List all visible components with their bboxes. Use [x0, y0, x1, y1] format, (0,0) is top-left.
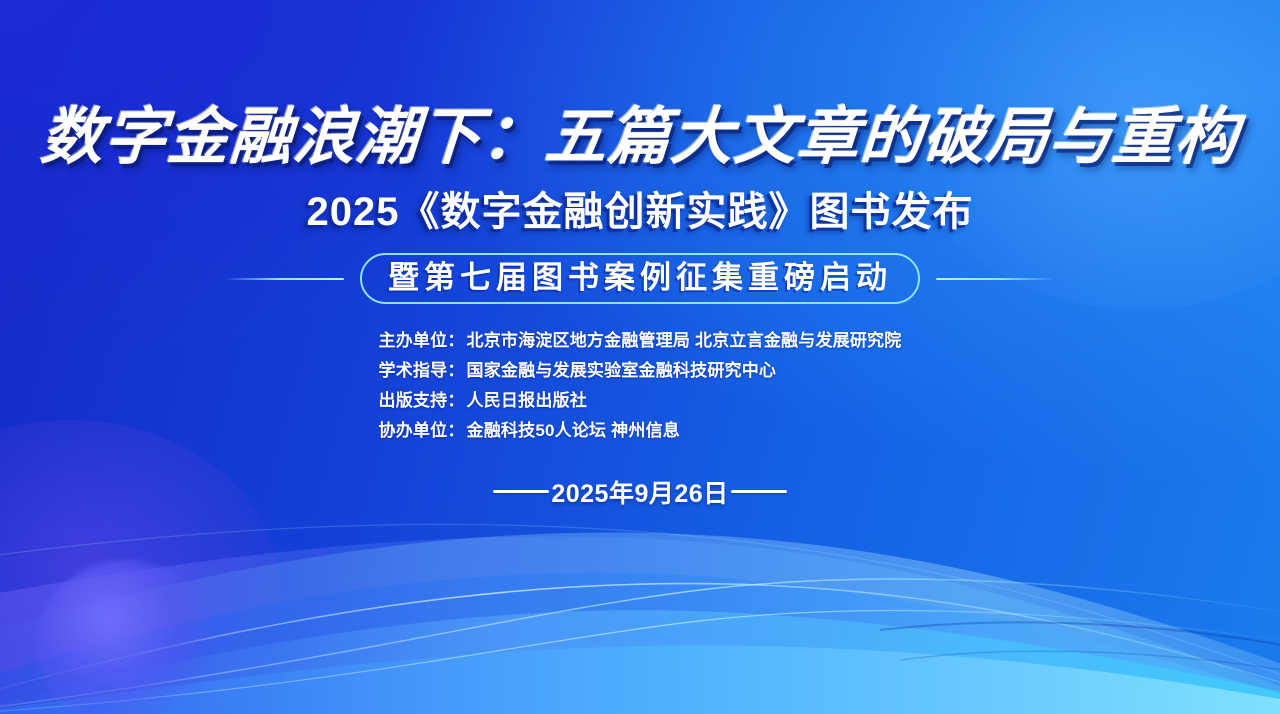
credit-value-organizer: 北京市海淀区地方金融管理局 北京立言金融与发展研究院	[467, 331, 902, 350]
date-dash-right	[731, 490, 787, 493]
page-title: 数字金融浪潮下：五篇大文章的破局与重构	[39, 107, 1240, 169]
launch-badge-label: 暨第七届图书案例征集重磅启动	[388, 260, 892, 295]
divider-line-left	[224, 278, 344, 280]
credit-label-publisher: 出版支持：	[379, 391, 465, 410]
poster-content: 数字金融浪潮下：五篇大文章的破局与重构 2025《数字金融创新实践》图书发布 暨…	[0, 0, 1280, 714]
divider-line-right	[936, 278, 1056, 280]
credit-line-publisher: 出版支持：人民日报出版社	[379, 390, 587, 413]
credit-line-organizer: 主办单位：北京市海淀区地方金融管理局 北京立言金融与发展研究院	[379, 330, 902, 353]
subtitle: 2025《数字金融创新实践》图书发布	[307, 192, 974, 232]
credit-line-academic: 学术指导：国家金融与发展实验室金融科技研究中心	[379, 360, 777, 383]
credit-label-co-organizer: 协办单位：	[379, 421, 465, 440]
badge-row: 暨第七届图书案例征集重磅启动	[0, 253, 1280, 304]
credit-value-co-organizer: 金融科技50人论坛 神州信息	[467, 421, 680, 440]
credit-value-publisher: 人民日报出版社	[467, 391, 587, 410]
launch-badge: 暨第七届图书案例征集重磅启动	[360, 253, 920, 304]
credit-label-organizer: 主办单位：	[379, 331, 465, 350]
credits-block: 主办单位：北京市海淀区地方金融管理局 北京立言金融与发展研究院 学术指导：国家金…	[379, 330, 902, 443]
date-dash-left	[493, 490, 549, 493]
event-date-row: 2025年9月26日	[493, 474, 786, 510]
poster-canvas: 数字金融浪潮下：五篇大文章的破局与重构 2025《数字金融创新实践》图书发布 暨…	[0, 0, 1280, 714]
credit-value-academic: 国家金融与发展实验室金融科技研究中心	[467, 361, 777, 380]
event-date: 2025年9月26日	[549, 474, 730, 510]
credit-label-academic: 学术指导：	[379, 361, 465, 380]
credit-line-co-organizer: 协办单位：金融科技50人论坛 神州信息	[379, 420, 680, 443]
